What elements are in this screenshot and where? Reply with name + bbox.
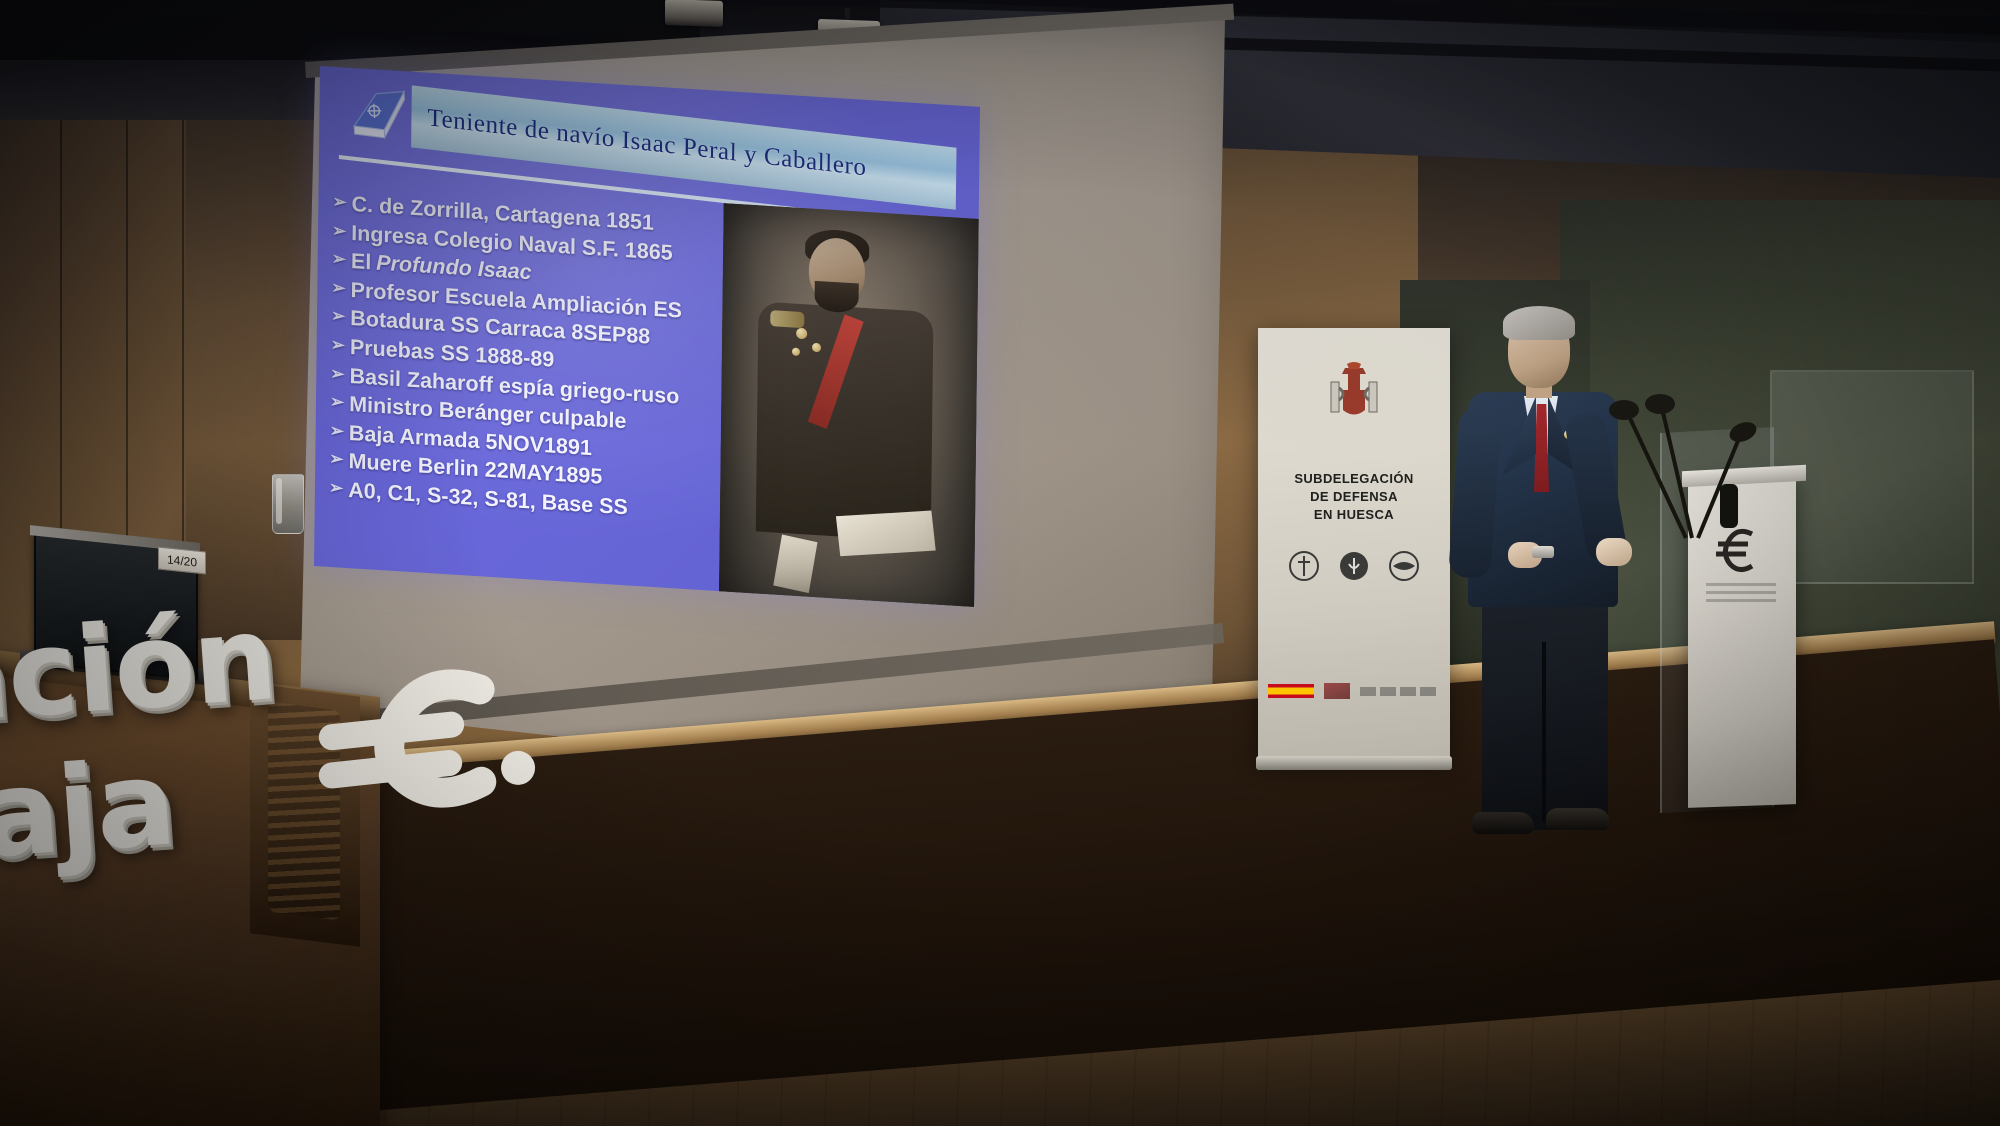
spanish-coat-of-arms xyxy=(1321,360,1387,438)
laptop-page-badge: 14/20 xyxy=(158,546,206,574)
spain-flag-icon xyxy=(1268,684,1314,698)
ibercaja-euro-logo-signage-icon xyxy=(310,665,550,840)
shoe xyxy=(1472,812,1534,834)
ministry-mark-icon xyxy=(1324,683,1350,699)
signage-line-1: ación xyxy=(0,598,279,740)
bullet-marker-icon: ➢ xyxy=(330,389,345,415)
banner-base xyxy=(1256,756,1452,770)
glass-highlight xyxy=(276,478,282,524)
bullet-marker-icon: ➢ xyxy=(332,246,347,272)
projected-slide: Teniente de navío Isaac Peral y Caballer… xyxy=(314,66,980,607)
bullet-marker-icon: ➢ xyxy=(331,303,346,329)
lectern-logo-subtext xyxy=(1706,580,1776,602)
bullet-text: El xyxy=(351,247,372,277)
shoe xyxy=(1546,808,1610,830)
banner-footer xyxy=(1268,680,1440,702)
seal-ejercito-tierra-icon xyxy=(1287,546,1321,586)
rollup-banner: SUBDELEGACIÓN DE DEFENSA EN HUESCA xyxy=(1258,328,1450,760)
banner-line-2: DE DEFENSA xyxy=(1258,488,1450,507)
seal-ejercito-aire-icon xyxy=(1387,546,1421,586)
bullet-marker-icon: ➢ xyxy=(330,360,345,386)
bullet-marker-icon: ➢ xyxy=(332,189,347,215)
conference-room-photo: Teniente de navío Isaac Peral y Caballer… xyxy=(0,0,2000,1126)
presentation-clicker xyxy=(1532,546,1554,558)
slide-bullet-list: ➢C. de Zorrilla, Cartagena 1851➢Ingresa … xyxy=(329,189,733,528)
banner-footer-text xyxy=(1360,687,1440,696)
bullet-marker-icon: ➢ xyxy=(331,332,346,358)
bullet-marker-icon: ➢ xyxy=(331,275,346,301)
slide-title-bar: Teniente de navío Isaac Peral y Caballer… xyxy=(411,85,956,209)
signage-line-2: aja xyxy=(0,743,178,874)
bullet-marker-icon: ➢ xyxy=(329,418,344,444)
book-icon xyxy=(346,85,415,144)
slide-portrait-image xyxy=(719,203,980,607)
microphone-group xyxy=(1600,388,1840,548)
seal-armada-icon xyxy=(1337,546,1371,586)
banner-service-seals xyxy=(1258,546,1450,586)
bullet-marker-icon: ➢ xyxy=(329,446,344,472)
bullet-marker-icon: ➢ xyxy=(329,475,344,501)
bullet-marker-icon: ➢ xyxy=(332,217,347,243)
banner-line-1: SUBDELEGACIÓN xyxy=(1258,470,1450,489)
banner-line-3: EN HUESCA xyxy=(1258,506,1450,525)
